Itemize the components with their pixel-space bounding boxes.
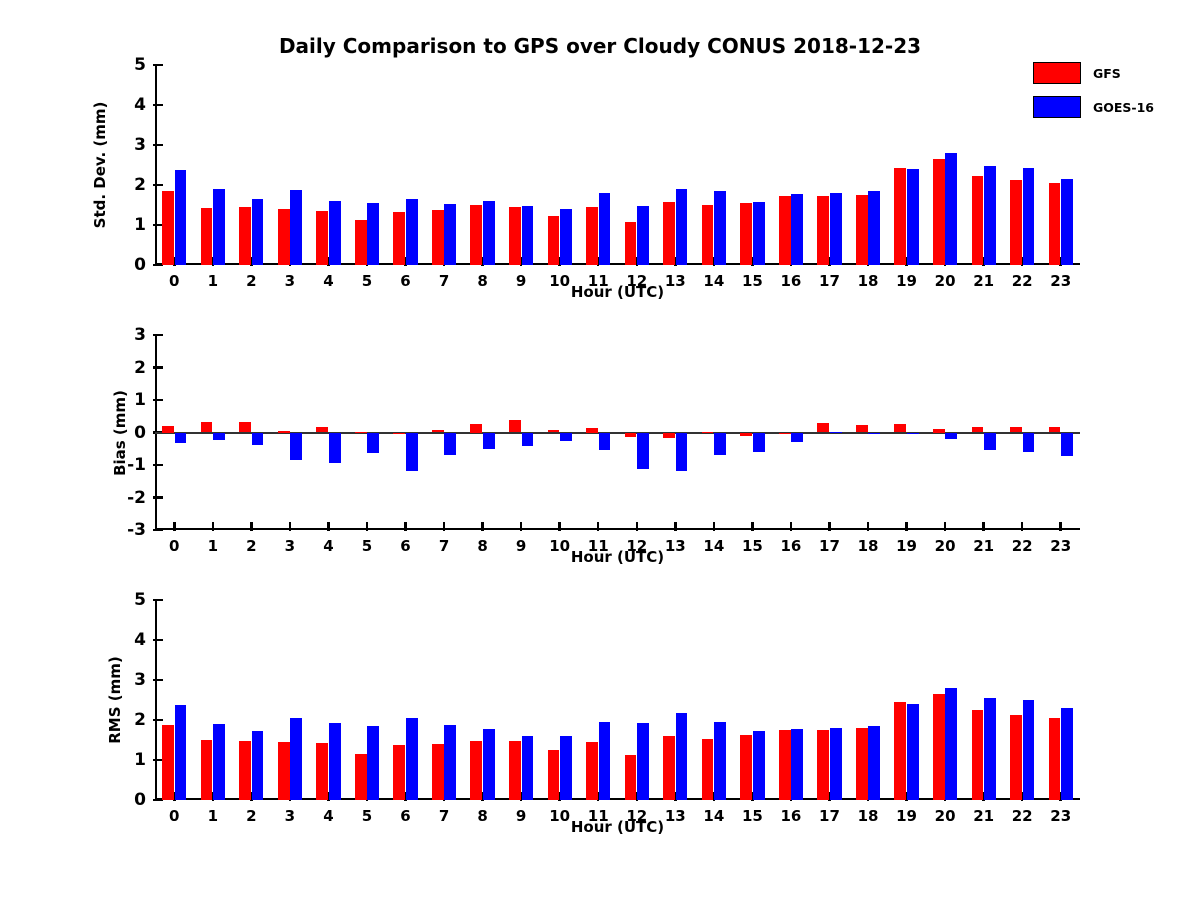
bar-goes-hour-0 xyxy=(175,705,187,800)
bar-goes-hour-7 xyxy=(444,204,456,265)
bar-goes-hour-19 xyxy=(907,169,919,265)
y-axis-tick-label: 2 xyxy=(134,710,146,730)
x-axis-tick-label: 10 xyxy=(549,807,570,825)
bar-gfs-hour-1 xyxy=(201,422,213,433)
x-axis-tick-label: 22 xyxy=(1012,272,1033,290)
x-axis-tick xyxy=(404,522,407,531)
x-axis-tick-label: 15 xyxy=(742,272,763,290)
x-axis-tick-label: 5 xyxy=(362,272,372,290)
bar-gfs-hour-17 xyxy=(817,423,829,432)
bar-goes-hour-21 xyxy=(984,698,996,800)
bar-goes-hour-14 xyxy=(714,722,726,800)
bar-gfs-hour-3 xyxy=(278,431,290,433)
y-axis-tick-label: -2 xyxy=(127,488,146,508)
bar-gfs-hour-2 xyxy=(239,422,251,432)
bar-gfs-hour-22 xyxy=(1010,715,1022,800)
y-axis-tick xyxy=(153,639,163,642)
x-axis-tick xyxy=(1059,522,1062,531)
panel-std-dev: Std. Dev. (mm) Hour (UTC) 01234501234567… xyxy=(155,65,1080,265)
bar-goes-hour-22 xyxy=(1023,168,1035,265)
bar-gfs-hour-20 xyxy=(933,429,945,432)
y-axis-tick-label: -1 xyxy=(127,455,146,475)
bar-goes-hour-1 xyxy=(213,189,225,265)
bar-gfs-hour-0 xyxy=(162,191,174,265)
bar-goes-hour-9 xyxy=(522,206,534,265)
bar-goes-hour-2 xyxy=(252,433,264,445)
x-axis-tick-label: 12 xyxy=(626,272,647,290)
x-axis-tick-label: 23 xyxy=(1050,272,1071,290)
bar-gfs-hour-6 xyxy=(393,745,405,800)
x-axis-tick-label: 12 xyxy=(626,807,647,825)
y-axis-tick-label: 3 xyxy=(134,135,146,155)
y-axis-tick-label: 5 xyxy=(134,590,146,610)
x-axis-tick-label: 19 xyxy=(896,272,917,290)
x-axis-tick-label: 13 xyxy=(665,807,686,825)
bar-goes-hour-7 xyxy=(444,433,456,456)
x-axis-tick-label: 14 xyxy=(703,537,724,555)
x-axis-tick xyxy=(597,522,600,531)
bar-gfs-hour-15 xyxy=(740,735,752,800)
bar-gfs-hour-20 xyxy=(933,694,945,800)
bar-goes-hour-3 xyxy=(290,718,302,800)
bar-gfs-hour-5 xyxy=(355,432,367,433)
x-axis-tick-label: 18 xyxy=(858,272,879,290)
y-axis-tick xyxy=(153,104,163,107)
bar-gfs-hour-10 xyxy=(548,750,560,800)
x-axis-tick-label: 22 xyxy=(1012,537,1033,555)
y-axis-tick-label: -3 xyxy=(127,520,146,540)
bar-gfs-hour-13 xyxy=(663,433,675,439)
bar-gfs-hour-16 xyxy=(779,433,791,434)
bar-goes-hour-18 xyxy=(868,433,880,434)
y-axis-label-std-dev: Std. Dev. (mm) xyxy=(91,85,109,245)
bar-gfs-hour-16 xyxy=(779,196,791,265)
bar-goes-hour-10 xyxy=(560,209,572,265)
bar-goes-hour-9 xyxy=(522,736,534,800)
bar-goes-hour-4 xyxy=(329,201,341,265)
x-axis-tick-label: 10 xyxy=(549,272,570,290)
x-axis-tick xyxy=(443,522,446,531)
x-axis-tick-label: 20 xyxy=(935,807,956,825)
bar-gfs-hour-2 xyxy=(239,741,251,800)
x-axis-tick xyxy=(212,522,215,531)
bar-gfs-hour-18 xyxy=(856,425,868,433)
x-axis-tick-label: 8 xyxy=(477,537,487,555)
bar-gfs-hour-14 xyxy=(702,205,714,265)
x-axis-tick xyxy=(636,522,639,531)
bar-goes-hour-0 xyxy=(175,433,187,443)
x-axis-tick-label: 18 xyxy=(858,537,879,555)
bar-gfs-hour-2 xyxy=(239,207,251,265)
y-axis-tick-label: 0 xyxy=(134,255,146,275)
x-axis-tick xyxy=(481,522,484,531)
y-axis-tick xyxy=(153,64,163,67)
bar-gfs-hour-23 xyxy=(1049,427,1061,433)
x-axis-tick xyxy=(867,522,870,531)
bar-gfs-hour-23 xyxy=(1049,183,1061,265)
x-axis-tick-label: 22 xyxy=(1012,807,1033,825)
bar-gfs-hour-5 xyxy=(355,220,367,265)
y-axis-tick xyxy=(153,496,163,499)
x-axis-tick-label: 11 xyxy=(588,537,609,555)
bar-goes-hour-13 xyxy=(676,433,688,471)
bar-goes-hour-18 xyxy=(868,726,880,800)
bar-gfs-hour-8 xyxy=(470,205,482,265)
bar-goes-hour-13 xyxy=(676,189,688,265)
bar-goes-hour-2 xyxy=(252,199,264,265)
x-axis-tick-label: 8 xyxy=(477,272,487,290)
bar-gfs-hour-7 xyxy=(432,430,444,433)
bar-gfs-hour-22 xyxy=(1010,180,1022,265)
bar-goes-hour-15 xyxy=(753,433,765,453)
x-axis-tick-label: 20 xyxy=(935,272,956,290)
y-axis-tick-label: 5 xyxy=(134,55,146,75)
bar-gfs-hour-14 xyxy=(702,432,714,433)
x-axis-tick-label: 11 xyxy=(588,807,609,825)
x-axis-tick-label: 16 xyxy=(781,807,802,825)
bar-gfs-hour-22 xyxy=(1010,427,1022,433)
x-axis-tick-label: 2 xyxy=(246,272,256,290)
x-axis-tick-label: 11 xyxy=(588,272,609,290)
x-axis-tick-label: 10 xyxy=(549,537,570,555)
bar-goes-hour-8 xyxy=(483,729,495,800)
bar-goes-hour-3 xyxy=(290,433,302,461)
y-axis-tick xyxy=(153,529,163,532)
bar-gfs-hour-8 xyxy=(470,741,482,800)
x-axis-tick-label: 5 xyxy=(362,807,372,825)
x-axis-tick-label: 1 xyxy=(208,807,218,825)
y-axis-tick-label: 1 xyxy=(134,750,146,770)
bar-goes-hour-1 xyxy=(213,433,225,440)
bar-gfs-hour-6 xyxy=(393,212,405,265)
x-axis-tick-label: 4 xyxy=(323,272,333,290)
bar-goes-hour-8 xyxy=(483,433,495,450)
bar-goes-hour-7 xyxy=(444,725,456,800)
x-axis-tick xyxy=(713,522,716,531)
y-axis-label-rms: RMS (mm) xyxy=(106,620,124,780)
bar-goes-hour-19 xyxy=(907,704,919,800)
y-axis-tick-label: 2 xyxy=(134,358,146,378)
bar-goes-hour-5 xyxy=(367,726,379,800)
x-axis-tick xyxy=(944,522,947,531)
bar-goes-hour-22 xyxy=(1023,433,1035,453)
bar-gfs-hour-10 xyxy=(548,430,560,433)
bar-gfs-hour-12 xyxy=(625,755,637,800)
bar-goes-hour-23 xyxy=(1061,708,1073,800)
x-axis-tick-label: 6 xyxy=(400,537,410,555)
bar-gfs-hour-13 xyxy=(663,202,675,265)
bar-gfs-hour-11 xyxy=(586,742,598,800)
x-axis-tick-label: 4 xyxy=(323,537,333,555)
bar-gfs-hour-10 xyxy=(548,216,560,265)
bar-gfs-hour-13 xyxy=(663,736,675,800)
x-axis-tick-label: 1 xyxy=(208,537,218,555)
bar-gfs-hour-8 xyxy=(470,424,482,432)
bar-goes-hour-12 xyxy=(637,723,649,800)
x-axis-tick xyxy=(520,522,523,531)
bar-gfs-hour-0 xyxy=(162,725,174,800)
legend-label-gfs: GFS xyxy=(1093,66,1121,81)
bar-goes-hour-3 xyxy=(290,190,302,265)
x-axis-tick-label: 19 xyxy=(896,807,917,825)
bar-goes-hour-10 xyxy=(560,736,572,800)
bar-goes-hour-6 xyxy=(406,433,418,472)
bar-goes-hour-8 xyxy=(483,201,495,265)
bar-goes-hour-17 xyxy=(830,193,842,265)
x-axis-tick-label: 21 xyxy=(973,272,994,290)
bar-gfs-hour-3 xyxy=(278,742,290,800)
bar-gfs-hour-23 xyxy=(1049,718,1061,800)
bar-goes-hour-23 xyxy=(1061,433,1073,456)
x-axis-tick-label: 7 xyxy=(439,807,449,825)
y-axis-tick-label: 2 xyxy=(134,175,146,195)
x-axis-tick-label: 15 xyxy=(742,537,763,555)
bar-gfs-hour-15 xyxy=(740,203,752,265)
x-axis-tick xyxy=(790,522,793,531)
x-axis-tick-label: 9 xyxy=(516,537,526,555)
bar-goes-hour-16 xyxy=(791,729,803,800)
panel-bias: Bias (mm) Hour (UTC) -3-2-10123012345678… xyxy=(155,335,1080,530)
x-axis-tick xyxy=(173,522,176,531)
x-axis-tick-label: 17 xyxy=(819,272,840,290)
x-axis-tick-label: 2 xyxy=(246,807,256,825)
bar-goes-hour-16 xyxy=(791,194,803,265)
bar-goes-hour-5 xyxy=(367,203,379,265)
x-axis-tick-label: 16 xyxy=(781,272,802,290)
bar-gfs-hour-18 xyxy=(856,195,868,265)
x-axis-tick-label: 13 xyxy=(665,272,686,290)
bar-gfs-hour-21 xyxy=(972,176,984,265)
x-axis-tick xyxy=(558,522,561,531)
bar-gfs-hour-1 xyxy=(201,740,213,800)
y-axis-tick xyxy=(153,399,163,402)
bar-gfs-hour-6 xyxy=(393,433,405,435)
bar-gfs-hour-7 xyxy=(432,744,444,800)
x-axis-tick xyxy=(289,522,292,531)
x-axis-tick-label: 20 xyxy=(935,537,956,555)
y-axis-tick xyxy=(153,184,163,187)
bar-goes-hour-2 xyxy=(252,731,264,800)
bar-gfs-hour-21 xyxy=(972,710,984,800)
bar-goes-hour-17 xyxy=(830,432,842,433)
bar-gfs-hour-11 xyxy=(586,207,598,265)
bar-gfs-hour-4 xyxy=(316,211,328,265)
bar-goes-hour-10 xyxy=(560,433,572,441)
y-axis-tick-label: 0 xyxy=(134,790,146,810)
x-axis-tick-label: 12 xyxy=(626,537,647,555)
x-axis-tick-label: 0 xyxy=(169,537,179,555)
bar-goes-hour-15 xyxy=(753,202,765,265)
bar-gfs-hour-12 xyxy=(625,222,637,265)
bar-gfs-hour-17 xyxy=(817,730,829,800)
bar-gfs-hour-3 xyxy=(278,209,290,265)
x-axis-tick-label: 3 xyxy=(285,272,295,290)
bar-goes-hour-18 xyxy=(868,191,880,265)
x-axis-tick-label: 16 xyxy=(781,537,802,555)
bar-goes-hour-12 xyxy=(637,206,649,265)
bar-gfs-hour-1 xyxy=(201,208,213,265)
panel-rms: RMS (mm) Hour (UTC) 01234501234567891011… xyxy=(155,600,1080,800)
x-axis-tick-label: 8 xyxy=(477,807,487,825)
y-axis-tick xyxy=(153,366,163,369)
bar-gfs-hour-9 xyxy=(509,207,521,265)
bar-goes-hour-13 xyxy=(676,713,688,800)
bar-goes-hour-14 xyxy=(714,433,726,456)
bar-goes-hour-14 xyxy=(714,191,726,265)
x-axis-tick xyxy=(327,522,330,531)
page-title: Daily Comparison to GPS over Cloudy CONU… xyxy=(0,34,1200,58)
bar-gfs-hour-21 xyxy=(972,427,984,433)
x-axis-tick-label: 3 xyxy=(285,807,295,825)
x-axis-tick-label: 13 xyxy=(665,537,686,555)
y-axis-tick-label: 4 xyxy=(134,630,146,650)
x-axis-tick xyxy=(1021,522,1024,531)
bar-gfs-hour-5 xyxy=(355,754,367,800)
bar-goes-hour-1 xyxy=(213,724,225,800)
x-axis-tick-label: 6 xyxy=(400,272,410,290)
figure-canvas: Daily Comparison to GPS over Cloudy CONU… xyxy=(0,0,1200,900)
bar-goes-hour-11 xyxy=(599,433,611,451)
x-axis-tick-label: 23 xyxy=(1050,537,1071,555)
bar-gfs-hour-19 xyxy=(894,168,906,265)
bar-goes-hour-16 xyxy=(791,433,803,442)
x-axis-tick xyxy=(905,522,908,531)
x-axis-tick-label: 7 xyxy=(439,537,449,555)
y-axis-tick-label: 3 xyxy=(134,325,146,345)
bar-goes-hour-12 xyxy=(637,433,649,469)
y-axis-tick-label: 1 xyxy=(134,215,146,235)
bar-goes-hour-11 xyxy=(599,722,611,800)
bar-goes-hour-0 xyxy=(175,170,187,265)
bar-gfs-hour-7 xyxy=(432,210,444,265)
x-axis-tick-label: 18 xyxy=(858,807,879,825)
bar-gfs-hour-4 xyxy=(316,427,328,433)
bar-gfs-hour-4 xyxy=(316,743,328,800)
bar-goes-hour-20 xyxy=(945,433,957,440)
legend-label-goes16: GOES-16 xyxy=(1093,100,1154,115)
bar-goes-hour-9 xyxy=(522,433,534,446)
bar-gfs-hour-19 xyxy=(894,702,906,800)
bar-gfs-hour-19 xyxy=(894,424,906,432)
x-axis-tick-label: 14 xyxy=(703,807,724,825)
bar-goes-hour-11 xyxy=(599,193,611,265)
x-axis-tick xyxy=(828,522,831,531)
x-axis-tick xyxy=(751,522,754,531)
bar-goes-hour-23 xyxy=(1061,179,1073,265)
x-axis-tick-label: 19 xyxy=(896,537,917,555)
bar-goes-hour-4 xyxy=(329,723,341,800)
y-axis-tick xyxy=(153,144,163,147)
y-axis-tick xyxy=(153,599,163,602)
x-axis-tick-label: 5 xyxy=(362,537,372,555)
x-axis-tick-label: 2 xyxy=(246,537,256,555)
bar-goes-hour-5 xyxy=(367,433,379,453)
x-axis-tick xyxy=(250,522,253,531)
x-axis-tick-label: 0 xyxy=(169,272,179,290)
y-axis-tick-label: 0 xyxy=(134,423,146,443)
x-axis-tick xyxy=(366,522,369,531)
bar-goes-hour-21 xyxy=(984,433,996,450)
y-axis-tick-label: 1 xyxy=(134,390,146,410)
bar-goes-hour-22 xyxy=(1023,700,1035,800)
y-axis-tick-label: 4 xyxy=(134,95,146,115)
x-axis-tick-label: 1 xyxy=(208,272,218,290)
x-axis-tick-label: 9 xyxy=(516,272,526,290)
x-axis-tick-label: 23 xyxy=(1050,807,1071,825)
x-axis-tick-label: 14 xyxy=(703,272,724,290)
bar-gfs-hour-16 xyxy=(779,730,791,800)
x-axis-tick-label: 17 xyxy=(819,807,840,825)
bar-gfs-hour-11 xyxy=(586,428,598,433)
bar-goes-hour-19 xyxy=(907,433,919,434)
bar-gfs-hour-9 xyxy=(509,741,521,800)
x-axis-tick xyxy=(982,522,985,531)
bar-gfs-hour-12 xyxy=(625,433,637,437)
x-axis-tick xyxy=(674,522,677,531)
y-axis-tick xyxy=(153,334,163,337)
bar-goes-hour-6 xyxy=(406,199,418,265)
x-axis-tick-label: 17 xyxy=(819,537,840,555)
x-axis-tick-label: 9 xyxy=(516,807,526,825)
x-axis-tick-label: 0 xyxy=(169,807,179,825)
x-axis-tick-label: 3 xyxy=(285,537,295,555)
bar-gfs-hour-20 xyxy=(933,159,945,265)
bar-goes-hour-6 xyxy=(406,718,418,800)
x-axis-tick-label: 6 xyxy=(400,807,410,825)
bar-goes-hour-17 xyxy=(830,728,842,800)
y-axis-tick xyxy=(153,464,163,467)
bar-gfs-hour-0 xyxy=(162,426,174,433)
bar-goes-hour-21 xyxy=(984,166,996,265)
bar-goes-hour-20 xyxy=(945,153,957,265)
bar-goes-hour-15 xyxy=(753,731,765,800)
x-axis-tick-label: 21 xyxy=(973,807,994,825)
x-axis-tick-label: 21 xyxy=(973,537,994,555)
x-axis-tick-label: 15 xyxy=(742,807,763,825)
bar-gfs-hour-9 xyxy=(509,420,521,432)
y-axis-tick xyxy=(153,679,163,682)
bar-goes-hour-20 xyxy=(945,688,957,800)
x-axis-tick-label: 7 xyxy=(439,272,449,290)
y-axis-tick-label: 3 xyxy=(134,670,146,690)
y-axis-tick xyxy=(153,719,163,722)
x-axis-tick-label: 4 xyxy=(323,807,333,825)
bar-gfs-hour-15 xyxy=(740,433,752,436)
bar-goes-hour-4 xyxy=(329,433,341,464)
bar-gfs-hour-18 xyxy=(856,728,868,800)
bar-gfs-hour-14 xyxy=(702,739,714,800)
bar-gfs-hour-17 xyxy=(817,196,829,265)
